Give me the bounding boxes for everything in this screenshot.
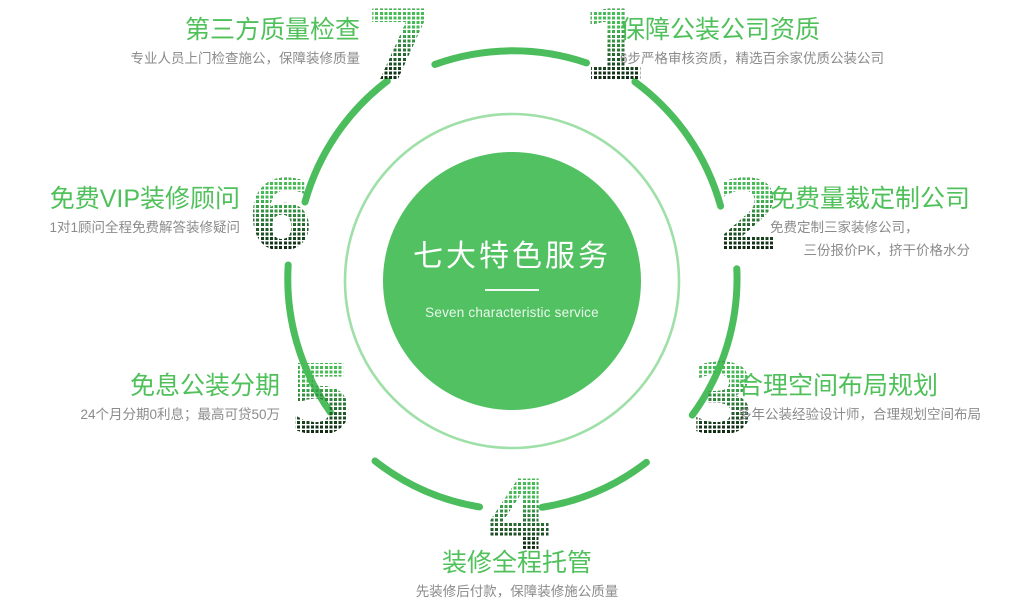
numeral-6: 6 <box>247 168 314 264</box>
service-item-1-title: 保障公装公司资质 <box>620 16 884 44</box>
service-item-5: 免息公装分期 24个月分期0利息；最高可贷50万 <box>0 372 280 425</box>
service-item-2-desc-line-1: 免费定制三家装修公司， <box>770 217 970 238</box>
service-item-4-desc-line-1: 先装修后付款，保障装修施公质量 <box>357 581 677 602</box>
service-item-3-desc-line-1: 多年公装经验设计师，合理规划空间布局 <box>738 404 981 425</box>
service-item-6-desc-line-1: 1对1顾问全程免费解答装修疑问 <box>0 217 240 238</box>
service-item-4: 装修全程托管 先装修后付款，保障装修施公质量 <box>357 549 677 602</box>
service-item-1: 保障公装公司资质 6步严格审核资质，精选百余家优质公装公司 <box>620 16 884 69</box>
service-item-3: 合理空间布局规划 多年公装经验设计师，合理规划空间布局 <box>738 372 981 425</box>
numeral-7: 7 <box>366 0 433 94</box>
service-item-4-title: 装修全程托管 <box>357 549 677 577</box>
center-divider <box>485 289 539 291</box>
service-item-7: 第三方质量检查 专业人员上门检查施公，保障装修质量 <box>60 16 360 69</box>
ring-arc-1 <box>435 51 587 65</box>
ring-arc-4 <box>542 462 646 507</box>
service-item-5-title: 免息公装分期 <box>0 372 280 400</box>
ring-arc-5 <box>375 461 480 507</box>
numeral-5: 5 <box>288 352 355 448</box>
center-subtitle: Seven characteristic service <box>425 305 599 320</box>
service-item-6-title: 免费VIP装修顾问 <box>0 185 240 213</box>
center-title: 七大特色服务 <box>413 242 611 272</box>
ring-arc-2 <box>635 82 721 206</box>
service-item-7-title: 第三方质量检查 <box>60 16 360 44</box>
service-item-5-desc-line-1: 24个月分期0利息；最高可贷50万 <box>0 404 280 425</box>
service-item-7-desc-line-1: 专业人员上门检查施公，保障装修质量 <box>60 48 360 69</box>
service-item-1-desc-line-1: 6步严格审核资质，精选百余家优质公装公司 <box>620 48 884 69</box>
service-item-2: 免费量裁定制公司 免费定制三家装修公司， 三份报价PK，挤干价格水分 <box>770 185 970 262</box>
infographic-canvas: 七大特色服务 Seven characteristic service 1 2 … <box>0 0 1034 615</box>
service-item-6: 免费VIP装修顾问 1对1顾问全程免费解答装修疑问 <box>0 185 240 238</box>
service-item-2-desc-line-2: 三份报价PK，挤干价格水分 <box>770 240 970 261</box>
service-item-2-title: 免费量裁定制公司 <box>770 185 970 213</box>
center-disc: 七大特色服务 Seven characteristic service <box>383 152 641 410</box>
service-item-3-title: 合理空间布局规划 <box>738 372 981 400</box>
